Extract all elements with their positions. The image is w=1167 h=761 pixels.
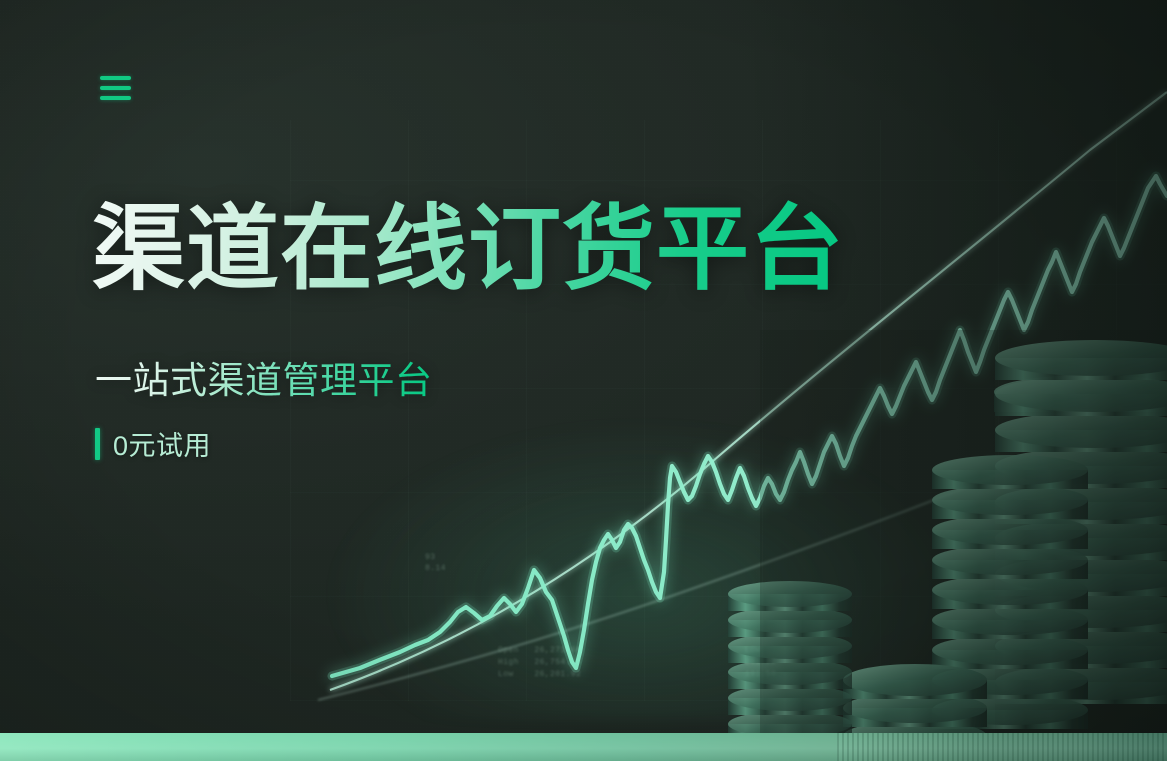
page-title: 渠道在线订货平台 (92, 199, 844, 299)
hamburger-bar-1 (100, 76, 131, 80)
hero-banner: Open 26,271.66 High 26,754.74 Low 26,201… (0, 0, 1167, 761)
band-coin-reflection (837, 733, 1167, 761)
hamburger-bar-3 (100, 96, 131, 100)
free-trial-label: 0元试用 (113, 424, 211, 463)
free-trial-cta[interactable]: 0元试用 (95, 424, 211, 463)
page-subtitle: 一站式渠道管理平台 (95, 350, 433, 404)
hero-content: 渠道在线订货平台 一站式渠道管理平台 0元试用 (0, 0, 1167, 761)
hamburger-bar-2 (100, 86, 131, 90)
hamburger-menu-icon[interactable] (100, 76, 132, 100)
bottom-accent-band (0, 733, 1167, 761)
accent-bar (95, 428, 100, 460)
